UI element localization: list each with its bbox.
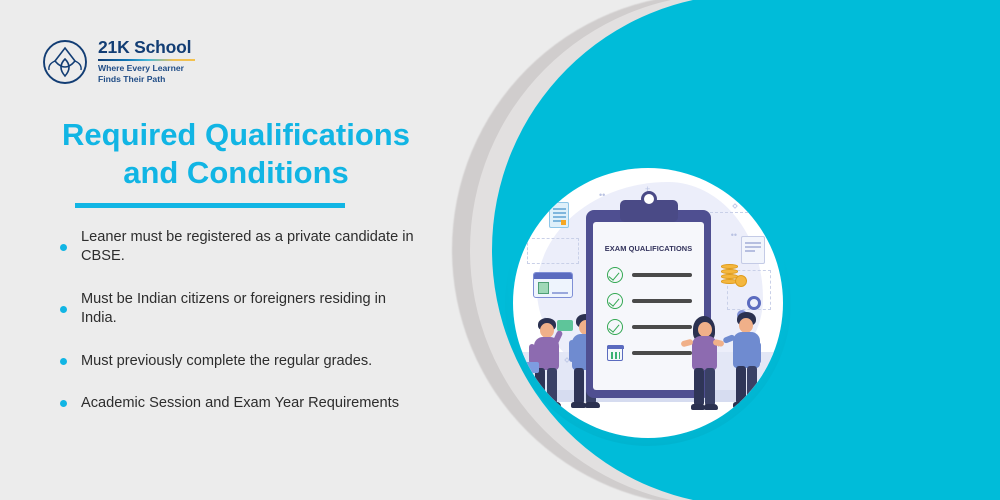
dashed-frame-left bbox=[527, 238, 579, 264]
dots-mark-icon: •• bbox=[599, 190, 605, 200]
list-item-label: Must previously complete the regular gra… bbox=[81, 352, 372, 371]
calendar-icon bbox=[607, 345, 623, 361]
page-title-line1: Required Qualifications bbox=[36, 116, 436, 154]
tablet-icon bbox=[591, 354, 607, 366]
logo-name: 21K School bbox=[98, 39, 195, 57]
page-title-line2: and Conditions bbox=[36, 154, 436, 192]
bullet-dot-icon bbox=[60, 358, 67, 365]
grey-pill-shadow-inner bbox=[470, 0, 1000, 500]
gear-icon bbox=[737, 310, 747, 320]
person-figure bbox=[683, 316, 727, 416]
green-check-circle-icon bbox=[607, 319, 623, 335]
id-card-icon bbox=[533, 272, 573, 298]
person-figure bbox=[725, 312, 769, 414]
checklist-line bbox=[632, 299, 692, 303]
logo-tagline-line1: Where Every Learner bbox=[98, 63, 195, 74]
checklist-line bbox=[632, 273, 692, 277]
clipboard-clamp bbox=[620, 200, 678, 222]
floor-shadow bbox=[513, 390, 783, 402]
clipboard: EXAM QUALIFICATIONS bbox=[586, 210, 711, 398]
dots-mark-icon: •• bbox=[731, 230, 737, 240]
cyan-pill-shape bbox=[492, 0, 1000, 500]
grey-pill-shadow-outer bbox=[452, 0, 1000, 500]
circle-shadow bbox=[505, 160, 791, 446]
logo-tagline-line2: Finds Their Path bbox=[98, 74, 195, 85]
logo-gradient-rule bbox=[98, 59, 195, 61]
checklist-row bbox=[607, 318, 692, 336]
coins-icon bbox=[721, 264, 747, 286]
title-underline bbox=[75, 203, 345, 208]
clipboard-ring bbox=[641, 191, 657, 207]
list-item-label: Academic Session and Exam Year Requireme… bbox=[81, 394, 399, 413]
checklist-row bbox=[607, 344, 692, 362]
diamond-dot-icon bbox=[542, 317, 548, 323]
bullet-dot-icon bbox=[60, 244, 67, 251]
checklist-line bbox=[632, 351, 692, 355]
floor-band bbox=[513, 352, 783, 392]
paper-icon bbox=[741, 236, 765, 264]
page-title: Required Qualifications and Conditions bbox=[36, 116, 436, 192]
diamond-dot-icon bbox=[564, 357, 570, 363]
green-check-circle-icon bbox=[607, 267, 623, 283]
bullet-dot-icon bbox=[60, 400, 67, 407]
plus-mark-icon: + bbox=[716, 340, 721, 350]
clipboard-title: EXAM QUALIFICATIONS bbox=[593, 244, 704, 253]
gear-icon bbox=[747, 296, 761, 310]
list-item: Academic Session and Exam Year Requireme… bbox=[60, 394, 420, 413]
lotus-circle-icon bbox=[42, 39, 88, 85]
list-item: Must previously complete the regular gra… bbox=[60, 352, 420, 371]
list-item-label: Leaner must be registered as a private c… bbox=[81, 228, 420, 267]
checklist-row bbox=[607, 266, 692, 284]
dashed-frame-right bbox=[727, 270, 771, 310]
dashed-frame-top bbox=[705, 212, 753, 240]
brand-logo[interactable]: 21K School Where Every Learner Finds The… bbox=[42, 38, 195, 85]
illustration-circle: •• •• + + bbox=[513, 168, 783, 438]
document-icon bbox=[549, 202, 569, 228]
list-item-label: Must be Indian citizens or foreigners re… bbox=[81, 290, 420, 329]
checklist-line bbox=[632, 325, 692, 329]
clipboard-paper: EXAM QUALIFICATIONS bbox=[593, 222, 704, 390]
green-check-circle-icon bbox=[607, 293, 623, 309]
person-figure bbox=[563, 314, 609, 414]
requirements-list: Leaner must be registered as a private c… bbox=[60, 228, 420, 413]
list-item: Must be Indian citizens or foreigners re… bbox=[60, 290, 420, 329]
person-figure bbox=[525, 318, 569, 414]
voucher-icon bbox=[557, 320, 573, 331]
list-item: Leaner must be registered as a private c… bbox=[60, 228, 420, 267]
bullet-dot-icon bbox=[60, 306, 67, 313]
diamond-dot-icon bbox=[732, 203, 738, 209]
plus-mark-icon: + bbox=[645, 184, 650, 194]
background-blob bbox=[537, 182, 763, 390]
checklist-row bbox=[607, 292, 692, 310]
